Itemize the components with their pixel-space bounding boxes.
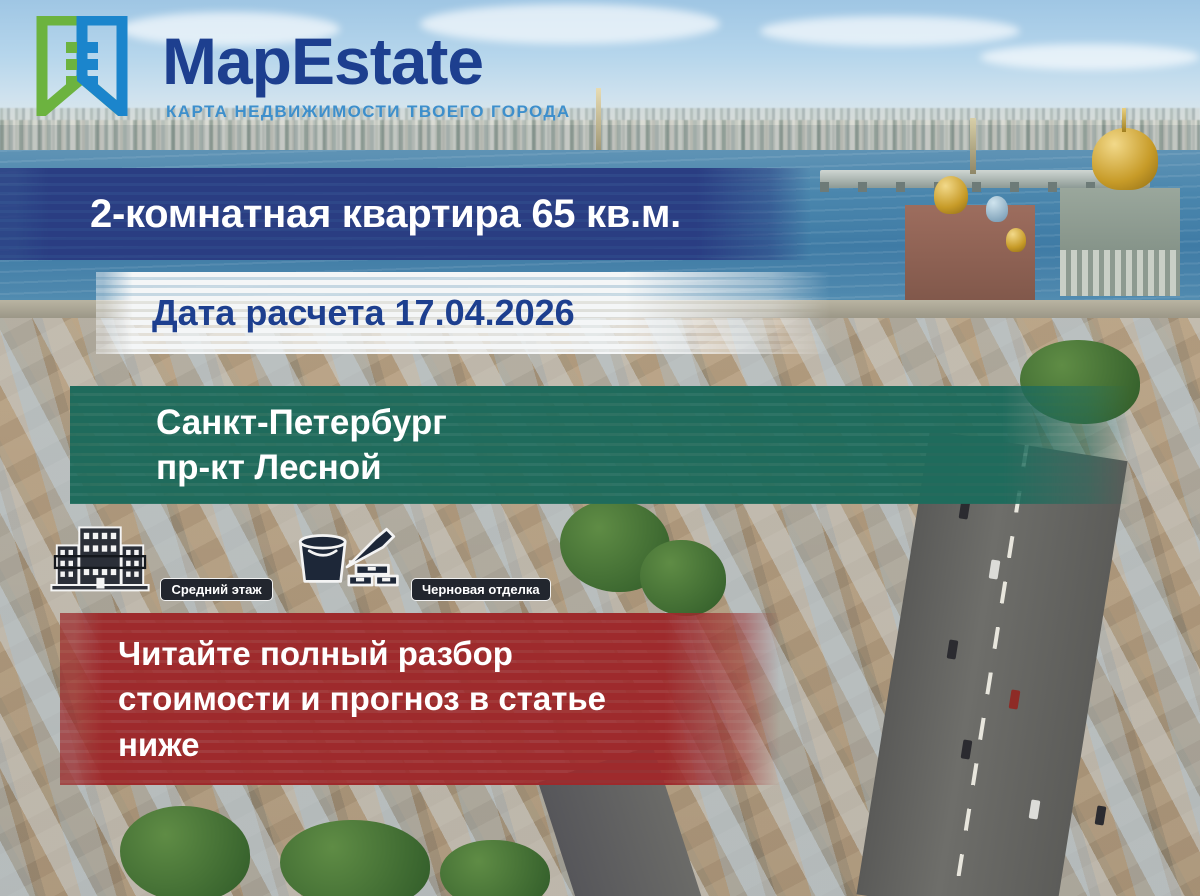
- blue-dome: [986, 196, 1008, 222]
- badge-label: Средний этаж: [160, 578, 272, 601]
- location-street: пр-кт Лесной: [156, 448, 382, 487]
- cta-line-3: ниже: [118, 726, 200, 763]
- cloud: [980, 44, 1200, 70]
- cta-banner: Читайте полный разбор стоимости и прогно…: [60, 613, 780, 785]
- calculation-date-banner: Дата расчета 17.04.2026: [96, 272, 831, 354]
- paint-bucket-trowel-bricks-icon: [287, 581, 411, 598]
- cta-line-2: стоимости и прогноз в статье: [118, 680, 606, 717]
- isaac-golden-dome: [1092, 128, 1158, 190]
- tree-cluster: [120, 806, 250, 896]
- golden-dome: [1006, 228, 1026, 252]
- golden-dome: [934, 176, 968, 214]
- property-title: 2-комнатная квартира 65 кв.м.: [0, 192, 681, 237]
- badge-rough-finish: Черновая отделка: [287, 522, 551, 601]
- apartment-building-icon: [44, 581, 160, 598]
- peter-paul-spire: [596, 88, 601, 156]
- dome-spire: [1122, 108, 1126, 132]
- cloud: [760, 16, 1020, 46]
- badge-middle-floor: Средний этаж: [44, 522, 273, 601]
- location-text: Санкт-Петербург пр-кт Лесной: [70, 400, 447, 491]
- church-savior-spilled-blood: [905, 205, 1035, 315]
- saint-isaacs-cathedral: [1060, 188, 1180, 296]
- calculation-date: Дата расчета 17.04.2026: [96, 292, 575, 334]
- cta-text: Читайте полный разбор стоимости и прогно…: [60, 631, 606, 768]
- property-badges: Средний этаж: [44, 522, 551, 601]
- badge-label: Черновая отделка: [411, 578, 551, 601]
- brand-logo[interactable]: MapEstate КАРТА НЕДВИЖИМОСТИ ТВОЕГО ГОРО…: [36, 16, 556, 122]
- location-city: Санкт-Петербург: [156, 403, 447, 442]
- church-spire: [970, 118, 976, 174]
- tree-cluster: [640, 540, 726, 616]
- location-banner: Санкт-Петербург пр-кт Лесной: [70, 386, 1130, 504]
- map-bookmark-building-icon: [36, 16, 128, 116]
- brand-tagline: КАРТА НЕДВИЖИМОСТИ ТВОЕГО ГОРОДА: [166, 102, 571, 122]
- cta-line-1: Читайте полный разбор: [118, 635, 513, 672]
- colonnade: [1060, 250, 1180, 296]
- property-title-banner: 2-комнатная квартира 65 кв.м.: [0, 168, 810, 260]
- brand-name: MapEstate: [162, 28, 483, 94]
